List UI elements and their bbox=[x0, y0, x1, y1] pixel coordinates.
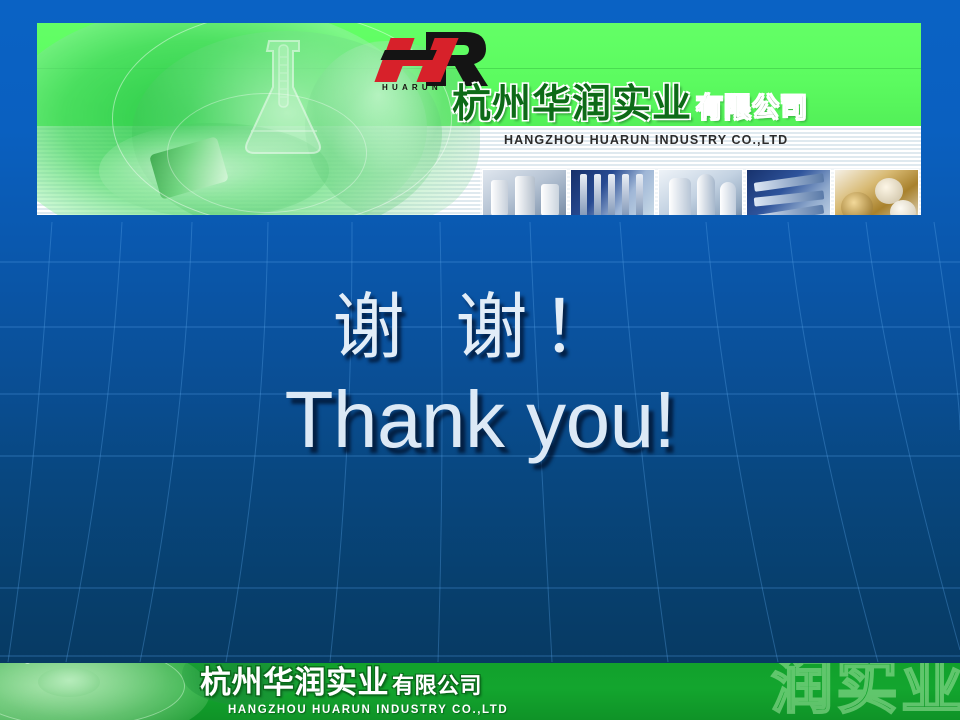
footer-dot bbox=[24, 663, 31, 664]
footer-bar: 润实业 杭州华润实业有限公司 HANGZHOU HUARUN INDUSTRY … bbox=[0, 663, 960, 720]
company-banner: HUARUN 杭州华润实业有限公司 HANGZHOU HUARUN INDUST… bbox=[37, 23, 921, 215]
banner-company-name-cn: 杭州华润实业有限公司 bbox=[452, 85, 808, 124]
footer-ellipse-large bbox=[0, 663, 210, 720]
footer-company-name-cn-suffix: 有限公司 bbox=[392, 674, 482, 699]
product-thumb-spray-bottles bbox=[482, 169, 567, 215]
huarun-wordmark: HUARUN bbox=[382, 83, 442, 92]
footer-company-name-en: HANGZHOU HUARUN INDUSTRY CO.,LTD bbox=[228, 704, 508, 716]
product-thumb-syringes bbox=[746, 169, 831, 215]
product-thumb-dropper-bottles bbox=[658, 169, 743, 215]
footer-company-name-cn: 杭州华润实业有限公司 bbox=[200, 668, 482, 699]
footer-watermark-text: 润实业 bbox=[771, 663, 960, 717]
product-thumb-amber-jars bbox=[834, 169, 919, 215]
banner-company-name-cn-suffix: 有限公司 bbox=[696, 93, 808, 124]
banner-company-name-en: HANGZHOU HUARUN INDUSTRY CO.,LTD bbox=[504, 133, 788, 147]
slide-canvas: HUARUN 杭州华润实业有限公司 HANGZHOU HUARUN INDUST… bbox=[0, 0, 960, 720]
huarun-hr-logo-icon bbox=[374, 28, 494, 90]
thank-you-english: Thank you! bbox=[0, 380, 960, 460]
erlenmeyer-flask-icon bbox=[227, 35, 337, 160]
banner-company-name-cn-main: 杭州华润实业 bbox=[452, 82, 692, 127]
thank-you-block: 谢 谢！ Thank you! bbox=[0, 290, 960, 460]
footer-company-name-cn-main: 杭州华润实业 bbox=[200, 665, 389, 701]
thank-you-chinese: 谢 谢！ bbox=[0, 290, 960, 366]
footer-ellipse-outline bbox=[0, 663, 185, 720]
footer-ellipse-small bbox=[38, 667, 100, 697]
product-thumb-glass-ampoules bbox=[570, 169, 655, 215]
product-photo-strip bbox=[480, 167, 921, 215]
